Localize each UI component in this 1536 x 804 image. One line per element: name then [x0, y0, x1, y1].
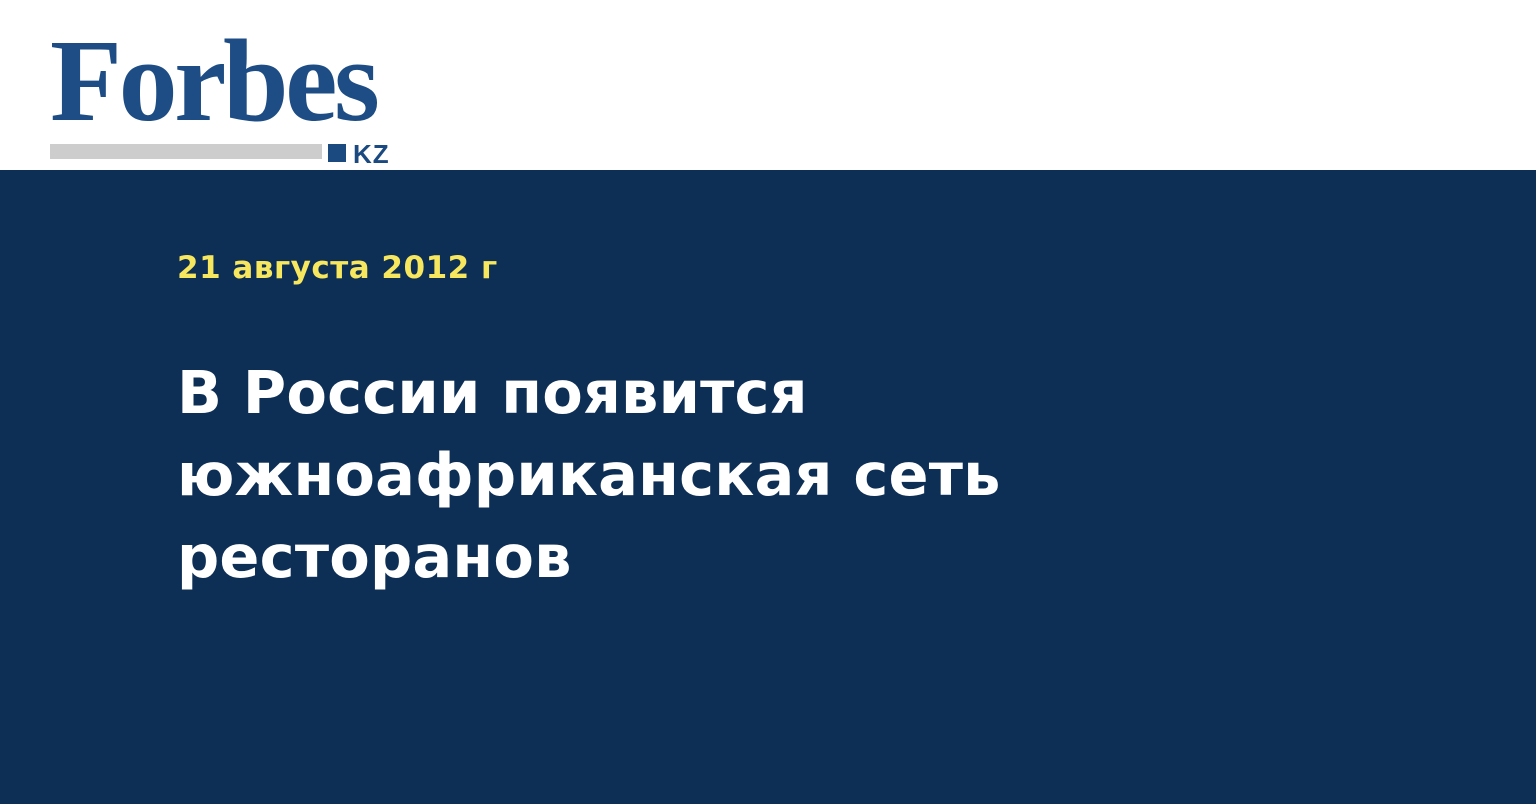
logo-wordmark: Forbes [50, 22, 376, 140]
page-title: В России появится южноафриканская сеть р… [177, 352, 1077, 598]
forbes-kz-logo[interactable]: Forbes KZ [50, 22, 410, 150]
hero-banner: 21 августа 2012 г В России появится южно… [0, 170, 1536, 804]
site-header: Forbes KZ [0, 0, 1536, 170]
logo-underline-rule [50, 144, 322, 159]
logo-locale-label: KZ [353, 141, 390, 167]
logo-square-icon [328, 144, 346, 162]
article-date: 21 августа 2012 г [177, 250, 498, 286]
article-card: Forbes KZ 21 августа 2012 г В России поя… [0, 0, 1536, 804]
